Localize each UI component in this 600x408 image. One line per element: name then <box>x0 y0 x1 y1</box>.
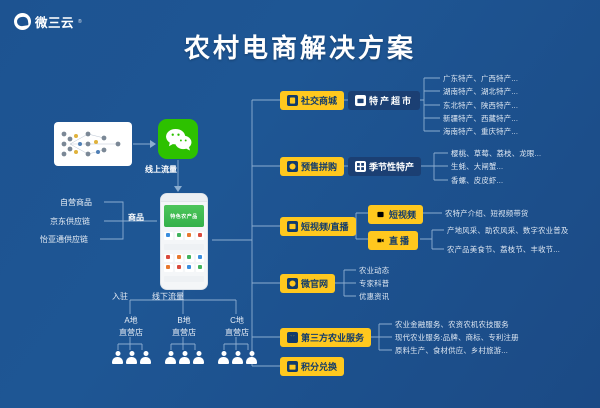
phone-grid-cell <box>164 264 173 272</box>
store-0-members <box>112 351 151 364</box>
node-label: 积分兑换 <box>301 360 337 373</box>
shop-icon <box>287 95 298 106</box>
leaf-specialty-4: 海南特产、重庆特产... <box>443 126 518 137</box>
leaf-agri-service-2: 原料生产、食材供应、乡村旅游... <box>395 345 508 356</box>
goods-source-0: 自营商品 <box>60 197 92 208</box>
phone-grid-cell <box>185 264 194 272</box>
person-icon <box>165 351 176 364</box>
gift-icon <box>287 361 298 372</box>
node-seasonal-specialty[interactable]: 季节性特产 <box>348 157 421 176</box>
store-icon <box>355 95 366 106</box>
phone-grid-cell <box>196 232 205 240</box>
smartphone-mockup: 特色农产品 <box>160 193 208 290</box>
phone-divider <box>164 276 204 282</box>
slide-canvas: 微三云 ® 农村电商解决方案 <box>0 0 600 408</box>
phone-grid-cell <box>185 254 194 262</box>
person-icon <box>232 351 243 364</box>
node-points-exchange[interactable]: 积分兑换 <box>280 357 344 376</box>
leaf-specialty-2: 东北特产、陕西特产... <box>443 100 518 111</box>
leaf-live-0: 产地风采、助农风采、数字农业普及 <box>447 225 568 236</box>
store-0-line1: A地 <box>121 315 141 326</box>
person-icon <box>179 351 190 364</box>
leaf-official-site-2: 优惠资讯 <box>359 291 389 302</box>
camera-icon <box>375 235 386 246</box>
leaf-agri-service-0: 农业金融服务、农资农机农技服务 <box>395 319 509 330</box>
node-live-stream[interactable]: 直播 <box>368 231 418 250</box>
node-specialty-supermarket[interactable]: 特产超市 <box>348 91 420 110</box>
phone-icon-grid <box>161 252 207 274</box>
node-label: 季节性特产 <box>369 160 414 173</box>
leaf-specialty-3: 新疆特产、西藏特产... <box>443 113 518 124</box>
leaf-seasonal-2: 香螺、皮皮虾... <box>451 175 503 186</box>
node-label: 社交商城 <box>301 94 337 107</box>
leaf-live-1: 农产品美食节、荔枝节、丰收节... <box>447 244 560 255</box>
node-presale-group-buy[interactable]: 预售拼购 <box>280 157 344 176</box>
wechat-icon <box>158 119 198 159</box>
leaf-specialty-0: 广东特产、广西特产... <box>443 73 518 84</box>
clock-icon <box>287 161 298 172</box>
store-0-line2: 直营店 <box>115 327 147 338</box>
online-traffic-label: 线上流量 <box>145 164 177 175</box>
person-icon <box>193 351 204 364</box>
phone-icon-grid <box>161 230 207 242</box>
sprout-icon <box>287 332 298 343</box>
phone-grid-cell <box>175 264 184 272</box>
person-icon <box>126 351 137 364</box>
goods-source-1: 京东供应链 <box>50 216 90 227</box>
person-icon <box>218 351 229 364</box>
phone-grid-cell <box>196 254 205 262</box>
grid-icon <box>355 161 366 172</box>
phone-status-bar <box>161 194 207 202</box>
person-icon <box>246 351 257 364</box>
store-1-members <box>165 351 204 364</box>
node-label: 第三方农业服务 <box>301 331 364 344</box>
person-icon <box>112 351 123 364</box>
leaf-seasonal-1: 生蚝、大闸蟹... <box>451 161 503 172</box>
phone-grid-cell <box>164 254 173 262</box>
leaf-official-site-0: 农业动态 <box>359 265 389 276</box>
node-label: 直播 <box>389 234 411 247</box>
phone-grid-cell <box>175 254 184 262</box>
store-1-line1: B地 <box>174 315 194 326</box>
node-short-video-live[interactable]: 短视频/直播 <box>280 217 356 236</box>
leaf-seasonal-0: 樱桃、草莓、荔枝、龙眼... <box>451 148 541 159</box>
phone-divider <box>164 244 204 250</box>
video-icon <box>287 221 298 232</box>
node-label: 短视频/直播 <box>301 220 349 233</box>
leaf-agri-service-1: 现代农业服务:品牌、商标、专利注册 <box>395 332 519 343</box>
person-icon <box>140 351 151 364</box>
phone-banner-text: 特色农产品 <box>170 213 198 220</box>
node-short-video[interactable]: 短视频 <box>368 205 423 224</box>
leaf-specialty-1: 湖南特产、湖北特产... <box>443 86 518 97</box>
node-label: 特产超市 <box>369 94 413 107</box>
social-network-graph-image <box>54 122 132 166</box>
node-social-mall[interactable]: 社交商城 <box>280 91 344 110</box>
offline-traffic-label: 线下流量 <box>152 291 184 302</box>
phone-grid-cell <box>185 232 194 240</box>
leaf-official-site-1: 专家科普 <box>359 278 389 289</box>
store-2-line1: C地 <box>227 315 247 326</box>
phone-banner: 特色农产品 <box>164 205 204 227</box>
node-label: 预售拼购 <box>301 160 337 173</box>
globe-icon <box>287 278 298 289</box>
play-icon <box>375 209 386 220</box>
node-wechat-official-site[interactable]: 微官网 <box>280 274 335 293</box>
node-third-party-agri-service[interactable]: 第三方农业服务 <box>280 328 371 347</box>
leaf-short-video-0: 农特产介绍、短视频带货 <box>445 208 529 219</box>
goods-source-2: 怡亚通供应链 <box>40 234 88 245</box>
node-label: 短视频 <box>389 208 416 221</box>
store-2-line2: 直营店 <box>221 327 253 338</box>
settle-in-label: 入驻 <box>112 291 128 302</box>
node-label: 微官网 <box>301 277 328 290</box>
phone-grid-cell <box>175 232 184 240</box>
store-2-members <box>218 351 257 364</box>
phone-grid-cell <box>196 264 205 272</box>
phone-grid-cell <box>164 232 173 240</box>
goods-label: 商品 <box>128 212 144 223</box>
store-1-line2: 直营店 <box>168 327 200 338</box>
